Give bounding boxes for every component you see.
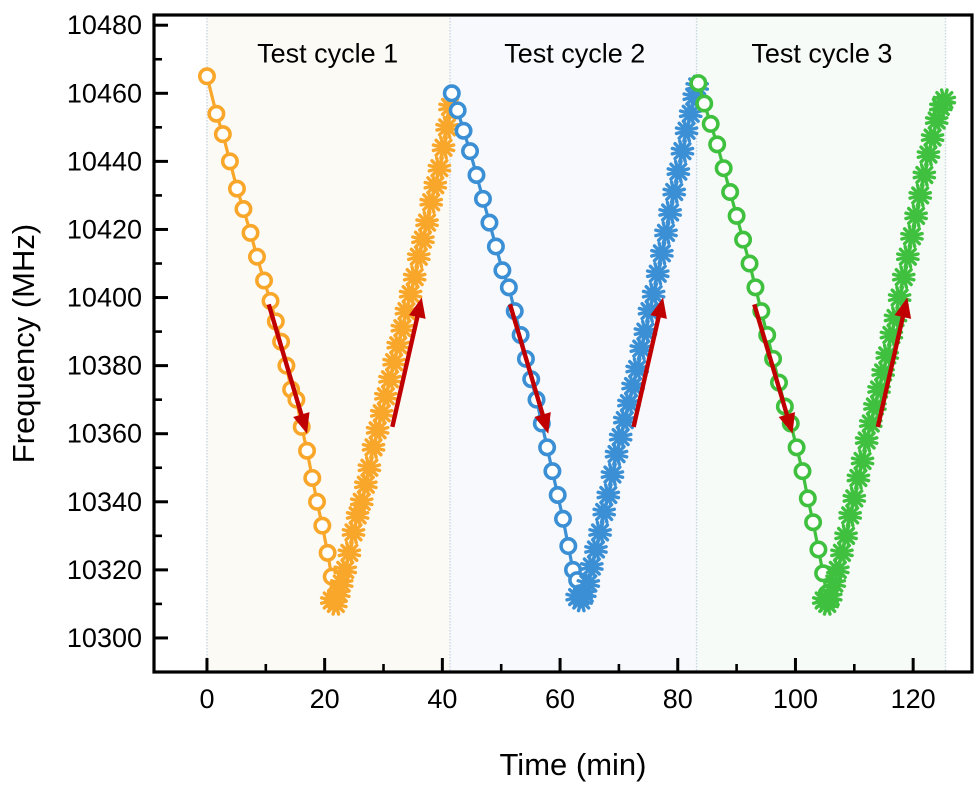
cycle-label-2: Test cycle 2 — [504, 38, 645, 68]
cycle-3-cooling-marker — [742, 256, 756, 270]
cycle-2-cooling-marker — [556, 512, 570, 526]
cycle-2-cooling-marker — [561, 539, 575, 553]
x-tick-label: 100 — [773, 684, 818, 714]
x-tick-label: 80 — [663, 684, 693, 714]
cycle-2-cooling-marker — [450, 103, 464, 117]
cycle-2-cooling-marker — [489, 239, 503, 253]
cycle-3-cooling-marker — [806, 515, 820, 529]
y-tick-label: 10300 — [67, 623, 142, 653]
cycle-2-cooling-marker — [476, 192, 490, 206]
x-tick-label: 40 — [427, 684, 457, 714]
x-tick-label: 120 — [891, 684, 936, 714]
cycle-1-cooling-marker — [305, 471, 319, 485]
cycle-3-cooling-marker — [795, 464, 809, 478]
x-tick-label: 60 — [545, 684, 575, 714]
cycle-1-cooling-marker — [315, 518, 329, 532]
cycle-2-cooling-marker — [551, 488, 565, 502]
cycle-3-cooling-marker — [736, 232, 750, 246]
cycle-3-cooling-marker — [801, 491, 815, 505]
cycle-1-cooling-marker — [236, 202, 250, 216]
cycle-1-cooling-marker — [250, 249, 264, 263]
cycle-1-cooling-marker — [243, 226, 257, 240]
cycle-2-cooling-marker — [445, 86, 459, 100]
cycle-3-cooling-marker — [811, 542, 825, 556]
cycle-3-cooling-marker — [704, 117, 718, 131]
cycle-label-3: Test cycle 3 — [751, 38, 892, 68]
y-tick-label: 10440 — [67, 146, 142, 176]
y-tick-label: 10480 — [67, 10, 142, 40]
y-tick-label: 10460 — [67, 78, 142, 108]
cycle-2-cooling-marker — [469, 168, 483, 182]
y-tick-label: 10320 — [67, 555, 142, 585]
cycle-2-cooling-marker — [495, 263, 509, 277]
cycle-1-cooling-marker — [223, 154, 237, 168]
x-axis-title: Time (min) — [500, 747, 647, 782]
cycle-1-cooling-marker — [257, 273, 271, 287]
y-tick-label: 10420 — [67, 214, 142, 244]
cycle-3-cooling-marker — [691, 76, 705, 90]
cycle-3-cooling-marker — [716, 161, 730, 175]
cycle-1-cooling-marker — [320, 546, 334, 560]
cycle-3-cooling-marker — [748, 280, 762, 294]
x-tick-label: 20 — [310, 684, 340, 714]
y-tick-label: 10380 — [67, 351, 142, 381]
frequency-vs-time-plot: 1030010320103401036010380104001042010440… — [0, 0, 979, 789]
cycle-3-cooling-marker — [723, 185, 737, 199]
cycle-2-cooling-marker — [482, 215, 496, 229]
cycle-1-cooling-marker — [230, 181, 244, 195]
cycle-1-cooling-marker — [300, 444, 314, 458]
x-tick-label: 0 — [199, 684, 214, 714]
cycle-1-cooling-marker — [310, 495, 324, 509]
cycle-label-1: Test cycle 1 — [257, 38, 398, 68]
cycle-3-cooling-marker — [789, 440, 803, 454]
y-tick-label: 10360 — [67, 419, 142, 449]
cycle-3-cooling-marker — [710, 137, 724, 151]
cycle-1-cooling-marker — [216, 127, 230, 141]
cycle-2-cooling-marker — [456, 124, 470, 138]
cycle-1-cooling-marker — [209, 107, 223, 121]
chart-root: 1030010320103401036010380104001042010440… — [0, 0, 979, 789]
y-tick-label: 10400 — [67, 283, 142, 313]
cycle-2-cooling-marker — [463, 144, 477, 158]
cycle-2-cooling-marker — [545, 464, 559, 478]
cycle-3-cooling-marker — [729, 209, 743, 223]
cycle-2-cooling-marker — [540, 440, 554, 454]
y-axis-title: Frequency (MHz) — [6, 224, 41, 463]
y-tick-label: 10340 — [67, 487, 142, 517]
cycle-1-cooling-marker — [200, 69, 214, 83]
cycle-2-cooling-marker — [502, 280, 516, 294]
cycle-3-cooling-marker — [697, 96, 711, 110]
